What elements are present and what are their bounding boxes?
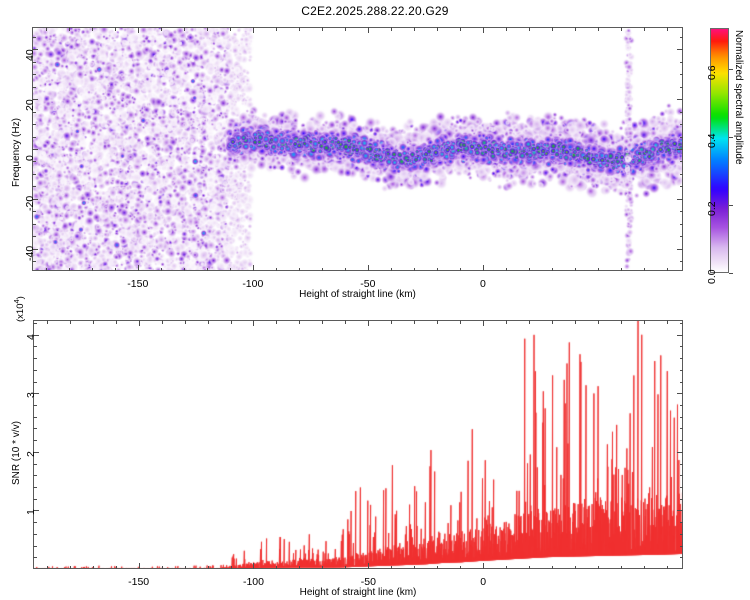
xtick-minor xyxy=(116,566,117,570)
xtick-minor xyxy=(138,27,139,33)
ytick-minor xyxy=(680,186,684,187)
xtick-minor xyxy=(552,268,553,272)
xtick-minor xyxy=(575,566,576,570)
ytick-minor xyxy=(32,161,36,162)
xtick-minor xyxy=(598,268,599,272)
xtick-minor xyxy=(552,27,553,31)
xtick-minor xyxy=(70,320,71,324)
colorbar-tick xyxy=(729,205,733,206)
xtick-minor xyxy=(368,265,369,271)
ytick-minor xyxy=(677,249,683,250)
xtick-minor xyxy=(184,27,185,31)
ytick-minor xyxy=(33,382,37,383)
xtick-minor xyxy=(644,566,645,570)
ytick-minor xyxy=(677,149,683,150)
xtick-minor xyxy=(575,268,576,272)
ytick-minor xyxy=(680,557,684,558)
ytick-minor xyxy=(32,62,36,63)
xtick-minor xyxy=(529,566,530,570)
ytick-minor xyxy=(680,475,684,476)
ytick-minor xyxy=(680,546,684,547)
xtick-minor xyxy=(414,566,415,570)
ytick-minor xyxy=(33,428,37,429)
xtick-minor xyxy=(506,320,507,324)
xtick-minor xyxy=(231,566,232,570)
xtick-minor xyxy=(116,320,117,324)
xtick-minor xyxy=(667,27,668,31)
xtick-minor xyxy=(322,268,323,272)
ytick-minor xyxy=(680,522,684,523)
xtick-minor xyxy=(161,268,162,272)
ytick-minor xyxy=(33,358,37,359)
ytick-minor xyxy=(32,186,36,187)
xtick-minor xyxy=(368,320,369,326)
ytick-minor xyxy=(32,211,36,212)
xtick-minor xyxy=(276,27,277,31)
xtick-minor xyxy=(414,27,415,31)
ytick-label: 1 xyxy=(25,510,37,516)
ytick-label: 0 xyxy=(24,155,36,161)
xtick-minor xyxy=(667,320,668,324)
xtick-minor xyxy=(47,566,48,570)
xtick-minor xyxy=(575,27,576,31)
colorbar-tick-label: 0.6 xyxy=(706,65,718,80)
xtick-minor xyxy=(368,27,369,33)
xtick-minor xyxy=(322,320,323,324)
ytick-minor xyxy=(32,37,36,38)
ytick-minor xyxy=(680,211,684,212)
ytick-minor xyxy=(33,346,37,347)
xtick-minor xyxy=(345,566,346,570)
ytick-minor xyxy=(32,261,36,262)
ytick-minor xyxy=(33,464,37,465)
ytick-minor xyxy=(680,137,684,138)
xtick-label: -150 xyxy=(126,576,152,588)
ytick-minor xyxy=(680,405,684,406)
xtick-minor xyxy=(299,320,300,324)
ytick-minor xyxy=(680,487,684,488)
figure-title: C2E2.2025.288.22.20.G29 xyxy=(0,4,750,18)
ytick-minor xyxy=(32,124,36,125)
ytick-minor xyxy=(680,417,684,418)
colorbar-tick-label: 0.4 xyxy=(706,133,718,148)
ytick-minor xyxy=(33,417,37,418)
ytick-minor xyxy=(33,557,37,558)
xtick-minor xyxy=(253,320,254,326)
xtick-minor xyxy=(138,265,139,271)
ytick-minor xyxy=(680,224,684,225)
ytick-minor xyxy=(680,370,684,371)
xtick-minor xyxy=(276,320,277,324)
xtick-minor xyxy=(506,27,507,31)
ytick-minor xyxy=(33,522,37,523)
xtick-minor xyxy=(529,320,530,324)
ytick-minor xyxy=(680,428,684,429)
ytick-minor xyxy=(680,87,684,88)
xtick-minor xyxy=(437,27,438,31)
ytick-minor xyxy=(32,74,36,75)
xtick-minor xyxy=(230,27,231,31)
xtick-minor xyxy=(621,27,622,31)
xtick-minor xyxy=(207,27,208,31)
xtick-minor xyxy=(139,320,140,326)
xtick-minor xyxy=(391,566,392,570)
snr-panel xyxy=(33,320,683,569)
ytick-minor xyxy=(32,224,36,225)
spectrogram-panel xyxy=(32,27,683,271)
xtick-minor xyxy=(208,566,209,570)
xtick-minor xyxy=(460,566,461,570)
ytick-label: 20 xyxy=(24,100,36,112)
xtick-minor xyxy=(460,27,461,31)
xtick-minor xyxy=(483,563,484,569)
xtick-minor xyxy=(552,566,553,570)
xtick-minor xyxy=(46,268,47,272)
xtick-minor xyxy=(184,268,185,272)
xtick-minor xyxy=(230,268,231,272)
colorbar-tick-label: 0.2 xyxy=(706,201,718,216)
ytick-label: 4 xyxy=(25,334,37,340)
ytick-label: -20 xyxy=(24,196,36,211)
xtick-minor xyxy=(185,320,186,324)
snr-canvas xyxy=(34,321,683,569)
ytick-minor xyxy=(33,534,37,535)
xtick-minor xyxy=(598,27,599,31)
xtick-minor xyxy=(598,320,599,324)
xtick-minor xyxy=(483,320,484,326)
ytick-minor xyxy=(680,37,684,38)
ytick-minor xyxy=(680,464,684,465)
colorbar-tick-label: 0.0 xyxy=(706,269,718,284)
ytick-minor xyxy=(680,112,684,113)
ytick-minor xyxy=(680,124,684,125)
xtick-minor xyxy=(276,268,277,272)
xtick-minor xyxy=(460,268,461,272)
ytick-minor xyxy=(32,236,36,237)
xtick-minor xyxy=(139,563,140,569)
ytick-minor xyxy=(680,440,684,441)
snr-xaxis-title: Height of straight line (km) xyxy=(296,587,420,598)
ytick-minor xyxy=(680,74,684,75)
xtick-minor xyxy=(437,566,438,570)
xtick-minor xyxy=(208,320,209,324)
ytick-minor xyxy=(33,546,37,547)
xtick-minor xyxy=(162,566,163,570)
xtick-minor xyxy=(69,27,70,31)
xtick-minor xyxy=(437,268,438,272)
xtick-minor xyxy=(529,268,530,272)
xtick-minor xyxy=(598,566,599,570)
xtick-minor xyxy=(185,566,186,570)
xtick-label: -100 xyxy=(240,576,266,588)
xtick-minor xyxy=(162,320,163,324)
xtick-minor xyxy=(483,27,484,33)
ytick-minor xyxy=(677,510,683,511)
xtick-minor xyxy=(92,268,93,272)
ytick-minor xyxy=(33,475,37,476)
xtick-minor xyxy=(483,265,484,271)
xtick-minor xyxy=(345,320,346,324)
xtick-minor xyxy=(93,566,94,570)
xtick-minor xyxy=(115,27,116,31)
xtick-minor xyxy=(414,320,415,324)
ytick-minor xyxy=(680,174,684,175)
ytick-label: 40 xyxy=(24,50,36,62)
xtick-minor xyxy=(322,566,323,570)
xtick-minor xyxy=(575,320,576,324)
ytick-label: 3 xyxy=(25,392,37,398)
colorbar-tick xyxy=(729,273,733,274)
xtick-minor xyxy=(391,27,392,31)
ytick-minor xyxy=(33,499,37,500)
xtick-minor xyxy=(437,320,438,324)
xtick-minor xyxy=(46,27,47,31)
ytick-minor xyxy=(32,137,36,138)
ytick-minor xyxy=(32,149,38,150)
xtick-minor xyxy=(299,27,300,31)
xtick-minor xyxy=(621,320,622,324)
xtick-minor xyxy=(93,320,94,324)
figure-root: C2E2.2025.288.22.20.G29 -150-100-500-40-… xyxy=(0,0,750,600)
xtick-minor xyxy=(621,268,622,272)
xtick-minor xyxy=(529,27,530,31)
xtick-minor xyxy=(391,268,392,272)
ytick-minor xyxy=(677,335,683,336)
xtick-minor xyxy=(322,27,323,31)
ytick-minor xyxy=(680,346,684,347)
ytick-minor xyxy=(680,382,684,383)
ytick-minor xyxy=(33,405,37,406)
ytick-minor xyxy=(680,323,684,324)
ytick-minor xyxy=(33,440,37,441)
xtick-minor xyxy=(345,268,346,272)
xtick-minor xyxy=(115,268,116,272)
ytick-minor xyxy=(33,323,37,324)
xtick-minor xyxy=(506,268,507,272)
snr-yaxis-title: SNR (10 * v/v) xyxy=(11,421,22,485)
xtick-label: -150 xyxy=(125,278,151,290)
xtick-minor xyxy=(276,566,277,570)
ytick-minor xyxy=(680,62,684,63)
ytick-minor xyxy=(32,174,36,175)
xtick-minor xyxy=(231,320,232,324)
xtick-minor xyxy=(345,27,346,31)
xtick-minor xyxy=(506,566,507,570)
ytick-minor xyxy=(680,161,684,162)
xtick-label: 0 xyxy=(470,278,496,290)
xtick-minor xyxy=(368,563,369,569)
xtick-minor xyxy=(460,320,461,324)
ytick-minor xyxy=(680,534,684,535)
colorbar-title: Normalized spectral amplitude xyxy=(733,30,744,165)
spectrogram-yaxis-title: Frequency (Hz) xyxy=(11,118,22,187)
xtick-minor xyxy=(644,320,645,324)
ytick-minor xyxy=(680,499,684,500)
ytick-minor xyxy=(677,99,683,100)
xtick-minor xyxy=(621,566,622,570)
spectrogram-canvas xyxy=(33,28,683,271)
xtick-minor xyxy=(644,268,645,272)
xtick-minor xyxy=(70,566,71,570)
xtick-minor xyxy=(667,566,668,570)
ytick-minor xyxy=(677,452,683,453)
ytick-minor xyxy=(32,112,36,113)
ytick-minor xyxy=(32,87,36,88)
xtick-minor xyxy=(161,27,162,31)
xtick-label: -100 xyxy=(240,278,266,290)
xtick-minor xyxy=(552,320,553,324)
xtick-minor xyxy=(414,268,415,272)
xtick-minor xyxy=(299,268,300,272)
ytick-minor xyxy=(677,393,683,394)
xtick-minor xyxy=(207,268,208,272)
xtick-minor xyxy=(644,27,645,31)
ytick-minor xyxy=(680,358,684,359)
ytick-minor xyxy=(680,261,684,262)
ytick-label: 2 xyxy=(25,451,37,457)
xtick-minor xyxy=(391,320,392,324)
xtick-minor xyxy=(299,566,300,570)
xtick-minor xyxy=(253,27,254,33)
xtick-minor xyxy=(667,268,668,272)
xtick-minor xyxy=(92,27,93,31)
ytick-minor xyxy=(680,236,684,237)
xtick-label: 0 xyxy=(470,576,496,588)
xtick-minor xyxy=(47,320,48,324)
xtick-minor xyxy=(253,563,254,569)
ytick-minor xyxy=(33,370,37,371)
spectrogram-xaxis-title: Height of straight line (km) xyxy=(296,289,420,300)
ytick-minor xyxy=(677,49,683,50)
ytick-label: -40 xyxy=(24,245,36,260)
xtick-minor xyxy=(253,265,254,271)
ytick-minor xyxy=(33,487,37,488)
snr-exponent-label: (x104) xyxy=(12,296,26,322)
xtick-minor xyxy=(69,268,70,272)
ytick-minor xyxy=(677,199,683,200)
